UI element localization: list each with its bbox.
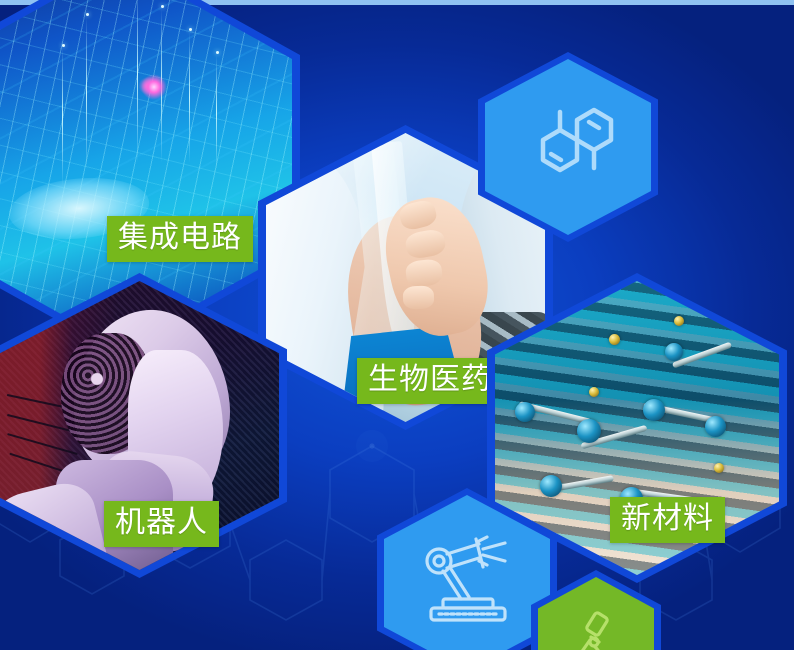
robot-arm-icon bbox=[413, 533, 521, 633]
label-robotics: 机器人 bbox=[104, 501, 219, 547]
label-text: 生物医药 bbox=[368, 363, 492, 396]
label-text: 机器人 bbox=[115, 506, 208, 539]
label-biomedicine: 生物医药 bbox=[357, 358, 503, 404]
molecule-icon bbox=[513, 92, 623, 202]
microscope-icon bbox=[560, 604, 632, 650]
label-new-materials: 新材料 bbox=[610, 497, 725, 543]
banner-stage: 集成电路 生物医药 bbox=[0, 0, 794, 650]
label-integrated-circuit: 集成电路 bbox=[107, 216, 253, 262]
label-text: 新材料 bbox=[621, 502, 714, 535]
label-text: 集成电路 bbox=[118, 221, 242, 254]
icon-tile-molecule-face bbox=[485, 59, 651, 235]
